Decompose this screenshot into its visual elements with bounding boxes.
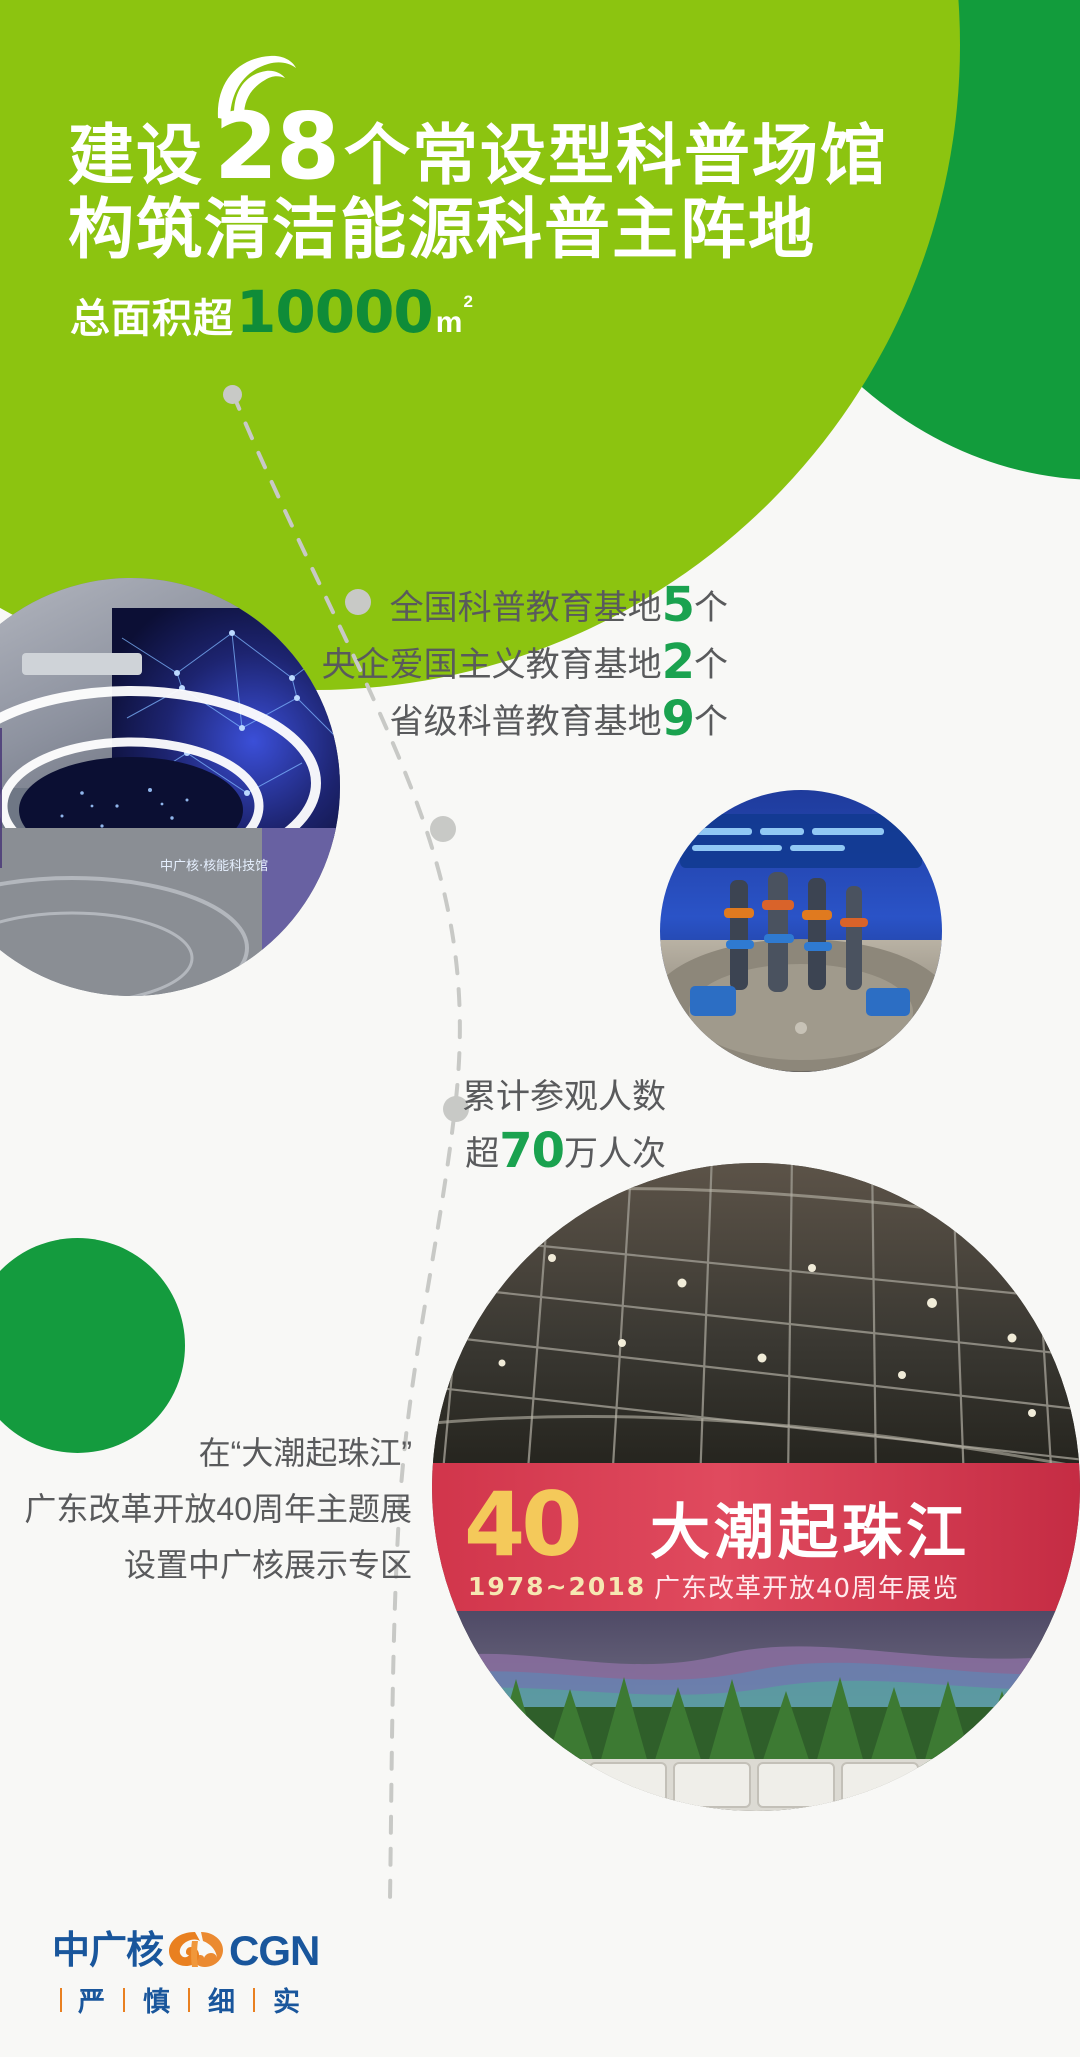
stat-line: 省级科普教育基地9个 [0, 692, 740, 749]
cgn-logo: 中广核 CGN 严 慎 细 实 [52, 1928, 319, 2019]
slogan-word: 严 [78, 1980, 105, 2019]
slogan-word: 实 [273, 1980, 300, 2019]
page-title-line-1: 建设 28 个常设型科普场馆 [68, 108, 888, 194]
stat-line: 全国科普教育基地5个 [0, 578, 740, 635]
subtitle-total-area: 总面积超 10000 m2 [70, 278, 472, 346]
highlight-number-value: 28 [214, 93, 338, 200]
logo-chinese-name: 中广核 [52, 1931, 163, 1971]
slogan-word: 细 [208, 1980, 235, 2019]
subtitle-unit-superscript: 2 [463, 292, 472, 311]
logo-slogan: 严 慎 细 实 [60, 1980, 319, 2019]
page-title-line-2: 构筑清洁能源科普主阵地 [68, 190, 816, 268]
slogan-divider [60, 1988, 62, 2012]
svg-text:中广核·核能科技馆: 中广核·核能科技馆 [160, 859, 268, 874]
stat-number: 70 [499, 1123, 564, 1179]
stat-prefix: 全国科普教育基地 [390, 589, 662, 627]
stat-block-education-bases: 全国科普教育基地5个 央企爱国主义教育基地2个 省级科普教育基地9个 [0, 578, 740, 749]
stat-prefix: 累计参观人数 [462, 1078, 666, 1116]
subtitle-unit-letter: m [436, 306, 463, 339]
stat-line: 央企爱国主义教育基地2个 [0, 635, 740, 692]
stat-line: 超70万人次 [0, 1124, 680, 1181]
path-node-start [223, 385, 242, 404]
logo-wordmark: 中广核 CGN [52, 1928, 319, 1974]
stat-prefix: 省级科普教育基地 [390, 703, 662, 741]
cgn-swirl-icon [165, 1927, 227, 1976]
stat-prefix: 超 [465, 1135, 499, 1173]
stat-line: 累计参观人数 [0, 1070, 680, 1124]
title-prefix: 建设 [68, 116, 204, 194]
svg-text:广东改革开放40周年展览: 广东改革开放40周年展览 [654, 1574, 959, 1604]
photo-dachao-qi-zhujiang: 40 1978~2018 大潮起珠江 广东改革开放40周年展览 [432, 1163, 1080, 1811]
stat-line: 在“大潮起珠江” [0, 1425, 430, 1481]
title-suffix: 个常设型科普场馆 [344, 116, 888, 194]
slogan-divider [253, 1988, 255, 2012]
stat-suffix: 个 [694, 703, 728, 741]
svg-text:1978~2018: 1978~2018 [468, 1572, 646, 1601]
stat-number: 5 [662, 577, 694, 633]
logo-english-name: CGN [229, 1930, 319, 1972]
stat-number: 9 [662, 691, 694, 747]
subtitle-number: 10000 [236, 278, 433, 346]
stat-line: 广东改革开放40周年主题展 [0, 1481, 430, 1537]
slogan-word: 慎 [143, 1980, 170, 2019]
subtitle-prefix: 总面积超 [70, 286, 234, 344]
slogan-divider [188, 1988, 190, 2012]
stat-block-exhibition: 在“大潮起珠江” 广东改革开放40周年主题展 设置中广核展示专区 [0, 1425, 430, 1593]
stat-prefix: 央企爱国主义教育基地 [322, 646, 662, 684]
decorative-circle-green-small [0, 1238, 185, 1453]
photo-exhibition-hall-models [660, 790, 942, 1072]
stat-suffix: 个 [694, 589, 728, 627]
stat-block-visitors: 累计参观人数 超70万人次 [0, 1070, 680, 1181]
svg-text:40: 40 [464, 1473, 579, 1576]
svg-text:大潮起珠江: 大潮起珠江 [650, 1498, 970, 1568]
slogan-divider [123, 1988, 125, 2012]
poster-canvas: 中广核·核能科技馆 [0, 0, 1080, 2057]
path-node-stat-1 [430, 816, 456, 842]
stat-line: 设置中广核展示专区 [0, 1537, 430, 1593]
stat-suffix: 万人次 [564, 1135, 666, 1173]
stat-number: 2 [662, 634, 694, 690]
highlight-number-28: 28 [214, 108, 338, 186]
stat-suffix: 个 [694, 646, 728, 684]
subtitle-unit: m2 [436, 306, 472, 340]
